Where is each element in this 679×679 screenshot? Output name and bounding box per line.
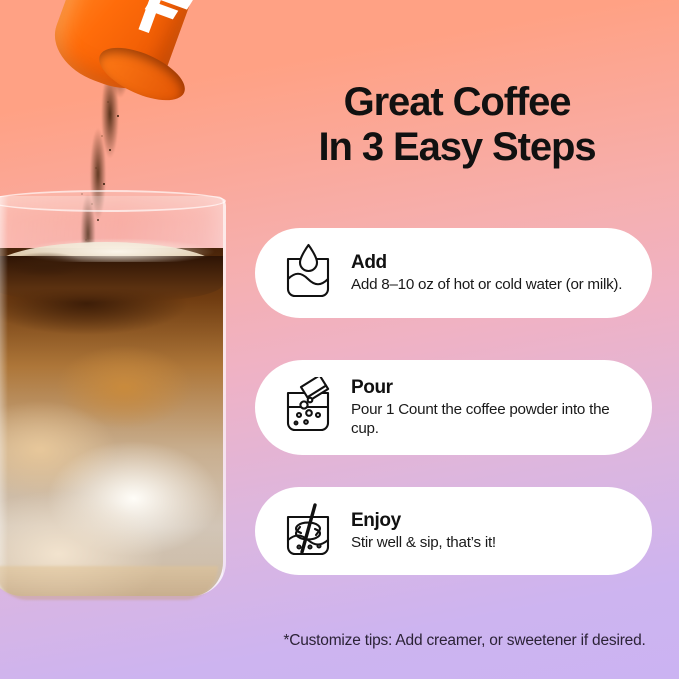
page-title: Great Coffee In 3 Easy Steps — [252, 80, 662, 170]
step-description: Pour 1 Count the coffee powder into the … — [351, 400, 636, 438]
coffee-grounds-pile — [0, 244, 94, 278]
step-description: Add 8–10 oz of hot or cold water (or mil… — [351, 275, 636, 294]
step-card-pour[interactable]: Pour Pour 1 Count the coffee powder into… — [255, 360, 652, 455]
headline-line-1: Great Coffee — [344, 80, 571, 124]
step-text-pour: Pour Pour 1 Count the coffee powder into… — [351, 377, 652, 438]
coffee-top-layer — [0, 256, 223, 302]
step-title: Enjoy — [351, 510, 636, 532]
infographic-page: Great Coffee In 3 Easy Steps Add Add 8–1… — [0, 0, 679, 679]
step-title: Pour — [351, 377, 636, 399]
footnote-text: *Customize tips: Add creamer, or sweeten… — [92, 632, 679, 650]
content-column: Great Coffee In 3 Easy Steps Add Add 8–1… — [252, 0, 679, 679]
step-title: Add — [351, 252, 636, 274]
coffee-powder-stream — [52, 44, 158, 274]
headline-line-2: In 3 Easy Steps — [252, 125, 662, 170]
orange-scoop — [43, 0, 198, 102]
coffee-grains — [52, 44, 158, 274]
step-card-enjoy[interactable]: Enjoy Stir well & sip, that’s it! — [255, 487, 652, 575]
scoop-rim — [92, 37, 192, 111]
cup-with-powder-packet-icon — [279, 377, 337, 439]
glass-base — [0, 566, 218, 600]
product-photo — [0, 0, 252, 620]
step-text-enjoy: Enjoy Stir well & sip, that’s it! — [351, 510, 652, 552]
glass-highlight — [0, 196, 8, 596]
step-text-add: Add Add 8–10 oz of hot or cold water (or… — [351, 252, 652, 294]
cup-with-stirrer-swirl-icon — [279, 500, 337, 562]
milk-coffee-liquid — [0, 248, 223, 596]
brand-logo-icon — [136, 0, 195, 50]
step-card-add[interactable]: Add Add 8–10 oz of hot or cold water (or… — [255, 228, 652, 318]
drinking-glass — [0, 196, 226, 596]
cup-with-water-droplet-icon — [279, 242, 337, 304]
foam-layer — [0, 236, 223, 262]
glass-rim — [0, 190, 226, 212]
step-description: Stir well & sip, that’s it! — [351, 533, 636, 552]
crema-layer — [0, 242, 223, 272]
